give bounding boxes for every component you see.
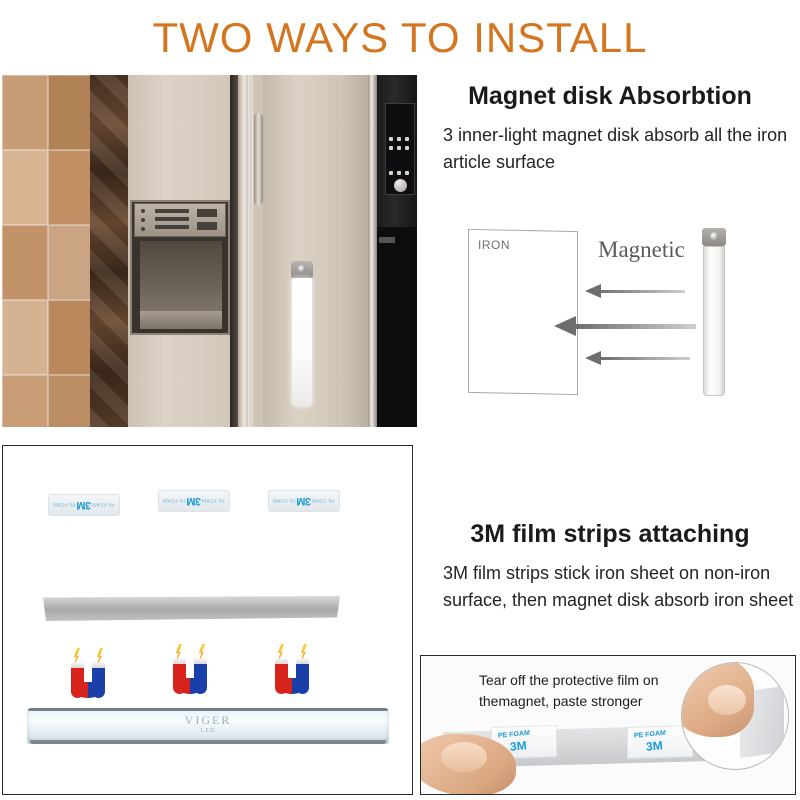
- adhesive-pad: PE FOAM 3M PE FOAM: [48, 494, 120, 516]
- pad-text-right: PE FOAM: [312, 497, 335, 503]
- iron-plate-label: IRON: [478, 238, 510, 252]
- motion-sensor-icon: [298, 265, 306, 273]
- handle-highlight: [248, 75, 253, 427]
- led-glow-panel: [292, 278, 312, 406]
- dispenser-control-panel: [134, 203, 226, 237]
- adhesive-pad: PE FOAM 3M PE FOAM: [158, 490, 230, 512]
- led-body-diagram: [703, 246, 725, 396]
- pad-text-left: PE FOAM: [273, 497, 296, 503]
- iron-plate: [468, 229, 578, 395]
- led-light-bar-part: VIGER LED: [27, 708, 389, 744]
- brand-name: VIGER: [185, 713, 232, 727]
- pad-text-left: PE FOAM: [163, 497, 186, 503]
- method-one-body: 3 inner-light magnet disk absorb all the…: [443, 122, 793, 176]
- appliance-knob: [394, 179, 407, 192]
- refrigerator-install-photo: [2, 75, 417, 427]
- brand-subtext: LED: [185, 726, 232, 737]
- page-title: TWO WAYS TO INSTALL: [0, 14, 800, 62]
- horseshoe-magnet-icon: [173, 646, 207, 694]
- pad-text-left: PE FOAM: [53, 501, 76, 507]
- led-light-bar-diagram: [702, 228, 726, 398]
- sensor-dot-icon: [710, 232, 719, 241]
- infographic-page: TWO WAYS TO INSTALL: [0, 0, 800, 800]
- film-peel-photo: Tear off the protective film on themagne…: [420, 655, 796, 795]
- dispenser-drip-tray: [140, 311, 222, 329]
- light-bar-bottom-edge: [30, 740, 386, 744]
- parts-exploded-view-panel: PE FOAM 3M PE FOAM PE FOAM 3M PE FOAM PE…: [2, 445, 413, 795]
- iron-sheet-part: [43, 596, 340, 621]
- fingernail: [708, 685, 746, 715]
- magnified-peel-detail: [681, 662, 789, 770]
- horseshoe-magnet-icon: [71, 650, 105, 698]
- fridge-right-door: [263, 75, 375, 427]
- 3m-logo: 3M: [646, 738, 664, 754]
- fridge-right-edge: [368, 75, 377, 427]
- tiled-wall: [2, 75, 94, 427]
- 3m-logo: 3M: [77, 499, 91, 511]
- diamond-panel-wall: [90, 75, 130, 427]
- door-gap: [230, 75, 238, 427]
- adhesive-pad: PE FOAM 3M PE FOAM: [268, 490, 340, 512]
- 3m-logo: 3M: [187, 495, 201, 507]
- pad-text-right: PE FOAM: [202, 497, 225, 503]
- 3m-logo: 3M: [297, 495, 311, 507]
- pad-text-right: PE FOAM: [92, 501, 115, 507]
- fridge-handle-right: [254, 113, 263, 205]
- method-one-heading: Magnet disk Absorbtion: [430, 82, 790, 111]
- horseshoe-magnet-icon: [275, 646, 309, 694]
- brand-logo: VIGER LED: [185, 715, 232, 737]
- method-two-heading: 3M film strips attaching: [430, 520, 790, 549]
- led-light-bar-installed: [291, 261, 313, 408]
- 3m-logo: 3M: [510, 738, 528, 754]
- magnetic-force-label: Magnetic: [598, 237, 685, 263]
- appliance-lower-body: [377, 227, 417, 427]
- method-two-body: 3M film strips stick iron sheet on non-i…: [443, 560, 795, 614]
- appliance-handle: [379, 237, 395, 243]
- light-bar-top-edge: [28, 708, 388, 711]
- magnetic-absorption-diagram: IRON Magnetic: [430, 205, 790, 405]
